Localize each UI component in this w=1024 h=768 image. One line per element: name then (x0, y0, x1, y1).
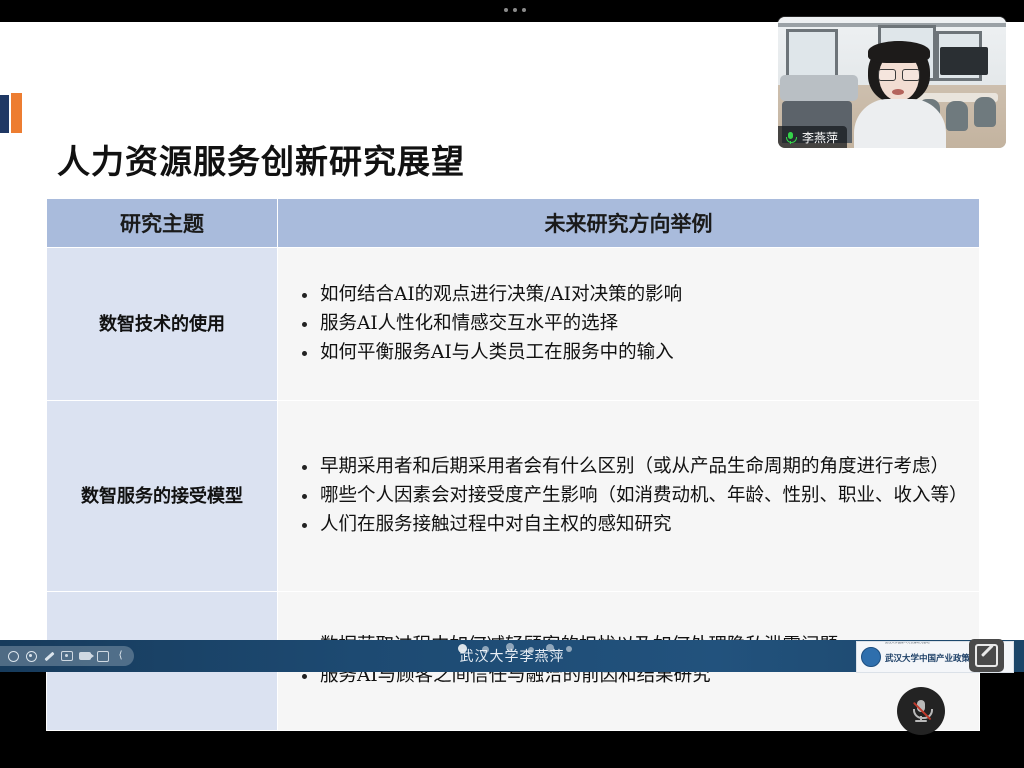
bullet-list: 早期采用者和后期采用者会有什么区别（或从产品生命周期的角度进行考虑） 哪些个人因… (296, 453, 969, 539)
navy-bar (0, 95, 9, 133)
torso (854, 99, 946, 148)
detail-cell: 早期采用者和后期采用者会有什么区别（或从产品生命周期的角度进行考虑） 哪些个人因… (278, 401, 980, 592)
decorative-corner-bars (0, 95, 26, 135)
tv-screen (940, 47, 988, 75)
bullet-list: 如何结合AI的观点进行决策/AI对决策的影响 服务AI人性化和情感交互水平的选择… (296, 281, 969, 367)
dot (513, 8, 517, 12)
page-title: 人力资源服务创新研究展望 (57, 135, 465, 183)
spotlight-circle-icon[interactable] (24, 649, 39, 664)
detail-cell: 如何结合AI的观点进行决策/AI对决策的影响 服务AI人性化和情感交互水平的选择… (278, 248, 980, 401)
orange-bar (11, 93, 22, 133)
logo-top-line: 武汉大学国家人力资源研究基地 (885, 641, 930, 644)
dot (522, 8, 526, 12)
list-item: 如何平衡服务AI与人类员工在服务中的输入 (316, 339, 969, 367)
dot (504, 8, 508, 12)
university-seal-icon (861, 647, 881, 667)
participant-video-tile[interactable]: 李燕萍 (778, 17, 1006, 148)
topic-cell: 数智服务的接受模型 (47, 401, 278, 592)
lens-left (878, 69, 896, 81)
list-item: 服务AI人性化和情感交互水平的选择 (316, 310, 969, 338)
screen-root: 人力资源服务创新研究展望 研究主题 未来研究方向举例 数智技术的使用 如何结合A… (0, 0, 1024, 768)
list-item: 如何结合AI的观点进行决策/AI对决策的影响 (316, 281, 969, 309)
lens-right (902, 69, 920, 81)
annotate-pencil-icon[interactable] (969, 639, 1004, 672)
annotation-toolbar[interactable]: ⟨ (0, 646, 134, 666)
microphone-muted-icon[interactable] (897, 687, 945, 735)
list-item: 早期采用者和后期采用者会有什么区别（或从产品生命周期的角度进行考虑） (316, 453, 969, 481)
sofa (780, 75, 858, 101)
laser-pointer-icon[interactable] (60, 649, 75, 664)
collapse-arrow-icon[interactable]: ⟨ (113, 649, 128, 664)
glasses-icon (878, 69, 920, 79)
column-header-topic: 研究主题 (47, 199, 278, 248)
chair (946, 101, 968, 131)
microphone-on-icon (784, 131, 797, 144)
table-row: 数智服务的接受模型 早期采用者和后期采用者会有什么区别（或从产品生命周期的角度进… (47, 401, 980, 592)
table-header-row: 研究主题 未来研究方向举例 (47, 199, 980, 248)
pen-icon[interactable] (42, 649, 57, 664)
column-header-directions: 未来研究方向举例 (278, 199, 980, 248)
list-item: 人们在服务接触过程中对自主权的感知研究 (316, 511, 969, 539)
participant-name: 李燕萍 (802, 129, 838, 146)
table-row: 数智技术的使用 如何结合AI的观点进行决策/AI对决策的影响 服务AI人性化和情… (47, 248, 980, 401)
camera-icon[interactable] (77, 649, 92, 664)
list-item: 哪些个人因素会对接受度产生影响（如消费动机、年龄、性别、职业、收入等） (316, 482, 969, 510)
participant-avatar (854, 41, 946, 148)
select-circle-icon[interactable] (6, 649, 21, 664)
stamp-icon[interactable] (95, 649, 110, 664)
three-dots-icon[interactable] (495, 3, 535, 17)
participant-name-badge: 李燕萍 (778, 126, 847, 148)
mouth (892, 89, 904, 95)
topic-cell: 数智技术的使用 (47, 248, 278, 401)
fringe (868, 41, 930, 63)
chair (974, 97, 996, 127)
